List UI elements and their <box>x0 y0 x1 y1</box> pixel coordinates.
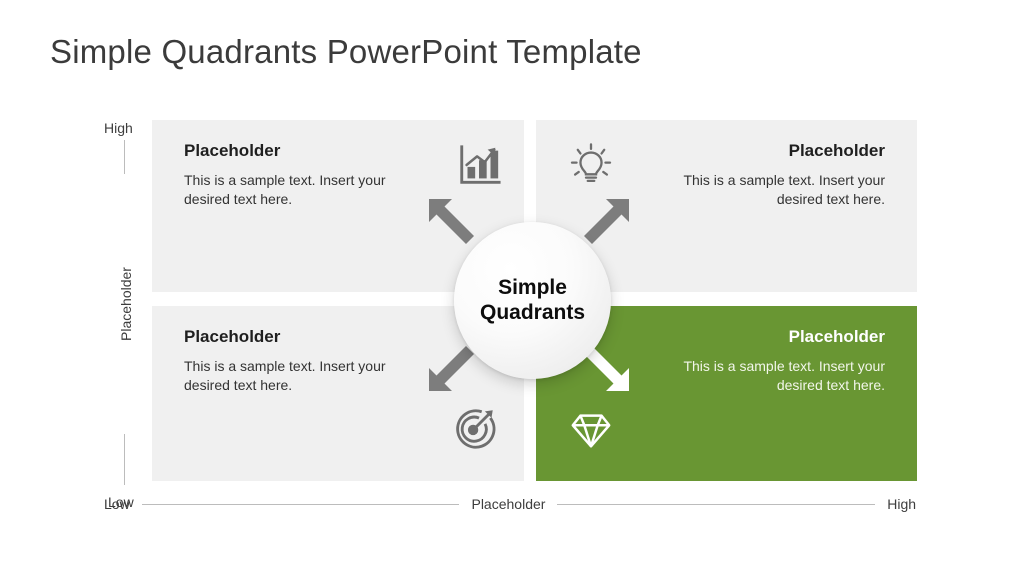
quadrant-top-left-body: This is a sample text. Insert your desir… <box>184 171 434 209</box>
x-axis-rule-left <box>142 504 460 505</box>
quadrant-bottom-right-title: Placeholder <box>635 328 885 347</box>
y-axis-high-label: High <box>104 121 133 135</box>
quadrant-bottom-left-title: Placeholder <box>184 328 434 347</box>
quadrant-top-right-title: Placeholder <box>635 142 885 161</box>
quadrant-top-right-text: Placeholder This is a sample text. Inser… <box>635 142 885 208</box>
target-dartboard-icon <box>452 406 498 452</box>
x-axis-high-label: High <box>887 497 916 511</box>
x-axis: Low Placeholder High <box>104 495 916 513</box>
lightbulb-icon <box>568 142 614 188</box>
quadrant-bottom-left-text: Placeholder This is a sample text. Inser… <box>184 328 434 394</box>
x-axis-rule-right <box>557 504 875 505</box>
center-circle-line1: Simple <box>498 276 567 301</box>
diamond-gem-icon <box>568 408 614 454</box>
quadrant-bottom-right-body: This is a sample text. Insert your desir… <box>635 357 885 395</box>
y-axis-title: Placeholder <box>116 174 136 434</box>
quadrant-bottom-left-body: This is a sample text. Insert your desir… <box>184 357 434 395</box>
x-axis-title: Placeholder <box>471 497 545 511</box>
quadrant-top-left-title: Placeholder <box>184 142 434 161</box>
quadrant-top-left-text: Placeholder This is a sample text. Inser… <box>184 142 434 208</box>
quadrant-bottom-right-text: Placeholder This is a sample text. Inser… <box>635 328 885 394</box>
center-circle-line2: Quadrants <box>480 301 585 326</box>
bar-chart-growth-icon <box>456 142 502 188</box>
quadrant-top-right-body: This is a sample text. Insert your desir… <box>635 171 885 209</box>
center-circle[interactable]: Simple Quadrants <box>454 222 611 379</box>
x-axis-low-label: Low <box>104 497 130 511</box>
page-title: Simple Quadrants PowerPoint Template <box>50 33 642 71</box>
